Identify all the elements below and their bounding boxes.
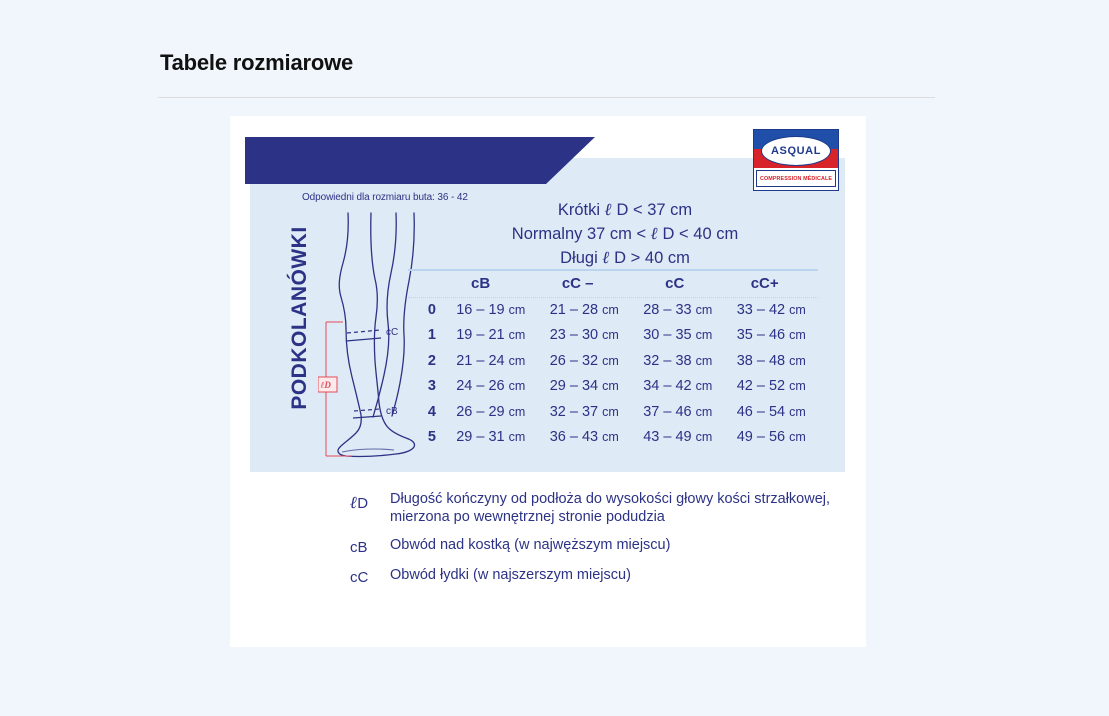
cell-5-cb: 29 – 31 cm	[444, 425, 538, 451]
legend-symbol-cb: cB	[350, 537, 390, 556]
cell-3-cc-minus: 29 – 34 cm	[538, 374, 632, 400]
size-chart-card: Kobiety ASQUAL COMPRESSION MÉDICALE Odpo…	[230, 116, 866, 647]
foot-sole-line	[342, 449, 394, 452]
column-header-cc-minus: cC –	[517, 271, 638, 297]
cell-3-cc: 34 – 42 cm	[631, 374, 725, 400]
cell-5-cc: 43 – 49 cm	[631, 425, 725, 451]
page-title: Tabele rozmiarowe	[160, 50, 353, 76]
ankle-measure-label: cB	[386, 406, 398, 417]
cell-0-cc: 28 – 33 cm	[631, 298, 725, 324]
length-rule-long-suffix: D > 40 cm	[610, 249, 690, 267]
row-size-2: 2	[408, 349, 444, 375]
script-l-icon: ℓ	[602, 248, 609, 267]
cell-1-cc: 30 – 35 cm	[631, 323, 725, 349]
length-rules: Krótki ℓ D < 37 cm Normalny 37 cm < ℓ D …	[430, 198, 820, 270]
cell-4-cb: 26 – 29 cm	[444, 400, 538, 426]
column-header-cc-plus: cC+	[711, 271, 818, 297]
table-row: 0 16 – 19 cm 21 – 28 cm 28 – 33 cm 33 – …	[408, 298, 818, 324]
row-size-4: 4	[408, 400, 444, 426]
length-rule-normal-prefix: Normalny 37 cm <	[512, 225, 651, 243]
legend-item-ld: ℓD Długość kończyny od podłoża do wysoko…	[350, 491, 850, 526]
ankle-measure-line-2	[353, 416, 381, 418]
size-table-body-grid: 0 16 – 19 cm 21 – 28 cm 28 – 33 cm 33 – …	[408, 298, 818, 451]
logo-brand-text: ASQUAL	[771, 145, 821, 157]
length-rule-normal-suffix: D < 40 cm	[658, 225, 738, 243]
size-table-grid: cB cC – cC cC+	[408, 271, 818, 297]
table-row: 3 24 – 26 cm 29 – 34 cm 34 – 42 cm 42 – …	[408, 374, 818, 400]
cell-1-cc-plus: 35 – 46 cm	[725, 323, 819, 349]
row-size-3: 3	[408, 374, 444, 400]
legend-item-cb: cB Obwód nad kostką (w najwęższym miejsc…	[350, 537, 850, 556]
table-row: 1 19 – 21 cm 23 – 30 cm 30 – 35 cm 35 – …	[408, 323, 818, 349]
title-divider	[158, 97, 935, 98]
ankle-measure-line	[354, 409, 380, 411]
script-l-icon: ℓ	[605, 200, 612, 219]
cell-2-cc-minus: 26 – 32 cm	[538, 349, 632, 375]
size-table-body: 0 16 – 19 cm 21 – 28 cm 28 – 33 cm 33 – …	[408, 298, 818, 451]
product-category-label: PODKOLANÓWKI	[288, 208, 312, 428]
row-size-0: 0	[408, 298, 444, 324]
length-rule-short: Krótki ℓ D < 37 cm	[430, 198, 820, 222]
column-header-cc: cC	[638, 271, 711, 297]
cell-4-cc-minus: 32 – 37 cm	[538, 400, 632, 426]
calf-measure-label: cC	[386, 327, 398, 338]
asqual-logo: ASQUAL COMPRESSION MÉDICALE	[753, 129, 839, 191]
column-header-cb: cB	[444, 271, 517, 297]
cell-2-cb: 21 – 24 cm	[444, 349, 538, 375]
legend-item-cc: cC Obwód łydki (w najszerszym miejscu)	[350, 567, 850, 586]
cell-1-cc-minus: 23 – 30 cm	[538, 323, 632, 349]
length-rule-long: Długi ℓ D > 40 cm	[430, 246, 820, 270]
length-rule-short-suffix: D < 37 cm	[612, 201, 692, 219]
cell-4-cc-plus: 46 – 54 cm	[725, 400, 819, 426]
logo-oval: ASQUAL	[761, 136, 831, 166]
measurement-legend: ℓD Długość kończyny od podłoża do wysoko…	[350, 491, 850, 597]
length-measure-label: ℓD	[321, 380, 332, 390]
length-rule-long-prefix: Długi	[560, 249, 602, 267]
script-l-icon: ℓ	[651, 224, 658, 243]
size-table-header-row: cB cC – cC cC+	[408, 271, 818, 297]
size-table: cB cC – cC cC+ 0 16 – 19 cm 21 – 28 cm 2…	[408, 269, 818, 451]
size-column-header	[408, 271, 444, 297]
row-size-5: 5	[408, 425, 444, 451]
size-table-head: cB cC – cC cC+	[408, 271, 818, 297]
table-row: 4 26 – 29 cm 32 – 37 cm 37 – 46 cm 46 – …	[408, 400, 818, 426]
cell-4-cc: 37 – 46 cm	[631, 400, 725, 426]
legend-symbol-ld: ℓD	[350, 491, 390, 513]
cell-5-cc-minus: 36 – 43 cm	[538, 425, 632, 451]
gender-banner	[245, 137, 595, 184]
length-rule-short-prefix: Krótki	[558, 201, 605, 219]
cell-0-cc-minus: 21 – 28 cm	[538, 298, 632, 324]
logo-tagline-strip: COMPRESSION MÉDICALE	[756, 170, 836, 187]
legend-text-ld: Długość kończyny od podłoża do wysokości…	[390, 491, 850, 526]
cell-3-cb: 24 – 26 cm	[444, 374, 538, 400]
table-row: 2 21 – 24 cm 26 – 32 cm 32 – 38 cm 38 – …	[408, 349, 818, 375]
cell-2-cc: 32 – 38 cm	[631, 349, 725, 375]
leg-outline-front	[338, 213, 415, 456]
length-rule-normal: Normalny 37 cm < ℓ D < 40 cm	[430, 222, 820, 246]
legend-text-cc: Obwód łydki (w najszerszym miejscu)	[390, 567, 631, 585]
calf-measure-line-2	[346, 338, 381, 341]
table-row: 5 29 – 31 cm 36 – 43 cm 43 – 49 cm 49 – …	[408, 425, 818, 451]
legend-text-cb: Obwód nad kostką (w najwęższym miejscu)	[390, 537, 670, 555]
cell-3-cc-plus: 42 – 52 cm	[725, 374, 819, 400]
legend-symbol-cc: cC	[350, 567, 390, 586]
cell-5-cc-plus: 49 – 56 cm	[725, 425, 819, 451]
leg-outline-front-2	[371, 213, 379, 403]
logo-tagline-text: COMPRESSION MÉDICALE	[760, 176, 832, 182]
row-size-1: 1	[408, 323, 444, 349]
cell-0-cb: 16 – 19 cm	[444, 298, 538, 324]
cell-0-cc-plus: 33 – 42 cm	[725, 298, 819, 324]
cell-2-cc-plus: 38 – 48 cm	[725, 349, 819, 375]
cell-1-cb: 19 – 21 cm	[444, 323, 538, 349]
